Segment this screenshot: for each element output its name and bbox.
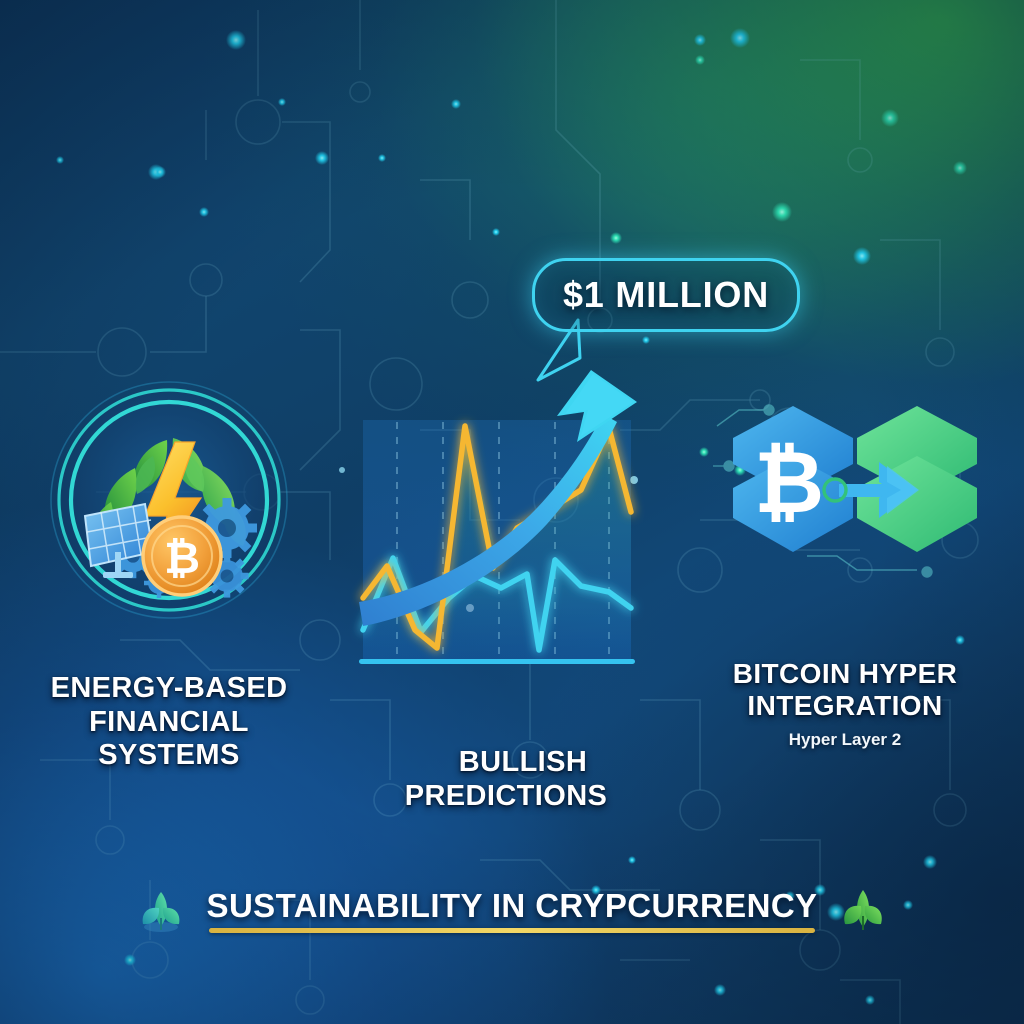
- feature-title: BITCOIN HYPER INTEGRATION: [680, 658, 1010, 723]
- title-line: ENERGY-BASED: [14, 672, 324, 706]
- price-callout-label: $1 MILLION: [563, 274, 769, 316]
- feature-title: BULLISH PREDICTIONS: [336, 746, 676, 813]
- baseline-axis: [359, 659, 635, 664]
- banner-underline: [209, 928, 816, 933]
- title-line: FINANCIAL: [14, 706, 324, 740]
- svg-text:₿: ₿: [754, 435, 824, 531]
- energy-badge-icon: ₿: [49, 380, 289, 620]
- leaf-icon: [133, 882, 189, 938]
- svg-text:₿: ₿: [164, 534, 200, 583]
- banner-title: SUSTAINABILITY IN CRYPCURRENCY: [207, 887, 818, 925]
- title-line: SYSTEMS: [14, 739, 324, 773]
- hexagon-bridge-icon: ₿: [711, 400, 979, 580]
- feature-columns: ₿ ENERGY-BASED FINANCIAL SYSTEMS: [0, 0, 1024, 1024]
- title-line: PREDICTIONS: [336, 780, 676, 814]
- feature-bitcoin-hyper: ₿ BITCOIN HYPE: [680, 400, 1010, 750]
- feature-subtitle: Hyper Layer 2: [680, 730, 1010, 750]
- price-callout-bubble[interactable]: $1 MILLION: [532, 258, 800, 332]
- bottom-banner: SUSTAINABILITY IN CRYPCURRENCY: [0, 880, 1024, 940]
- feature-predictions: BULLISH PREDICTIONS: [336, 330, 676, 813]
- title-line: BITCOIN HYPER: [680, 658, 1010, 690]
- feature-title: ENERGY-BASED FINANCIAL SYSTEMS: [14, 672, 324, 773]
- feature-energy: ₿ ENERGY-BASED FINANCIAL SYSTEMS: [14, 380, 324, 773]
- title-line: INTEGRATION: [680, 690, 1010, 722]
- banner-text-wrap: SUSTAINABILITY IN CRYPCURRENCY: [207, 887, 818, 933]
- line-chart-icon: [341, 330, 671, 680]
- layer2-hexagon-icon: [857, 406, 977, 552]
- bitcoin-coin-icon: ₿: [143, 517, 221, 595]
- title-line: BULLISH: [336, 746, 676, 780]
- infographic-canvas: ₿ ENERGY-BASED FINANCIAL SYSTEMS: [0, 0, 1024, 1024]
- leaf-icon: [835, 882, 891, 938]
